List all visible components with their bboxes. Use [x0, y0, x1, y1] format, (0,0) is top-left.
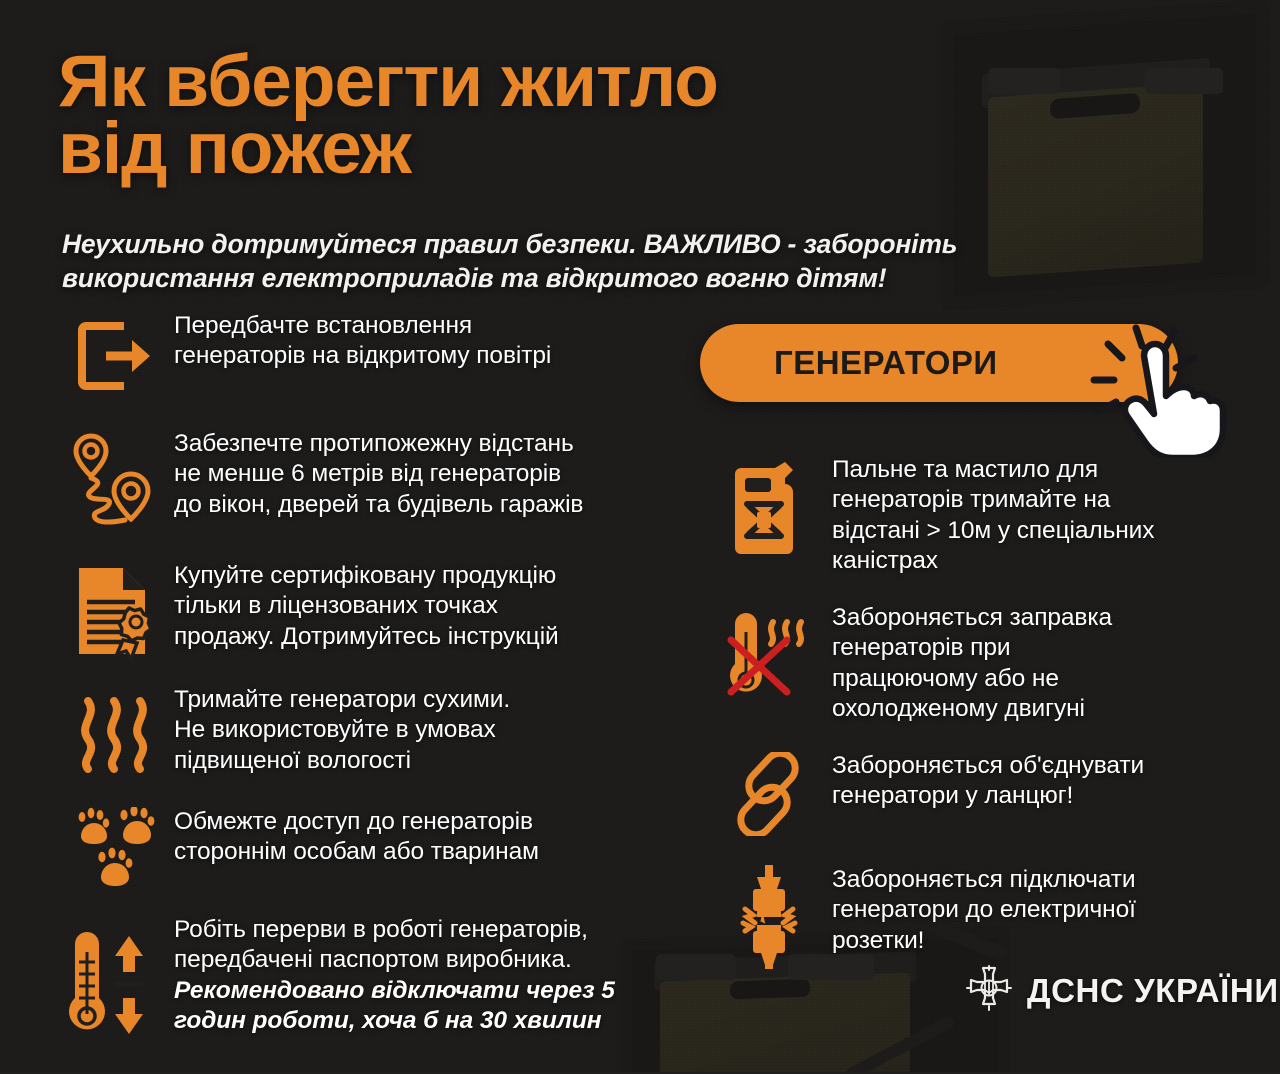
tip-text: Забороняється підключати генератори до е… [832, 862, 1136, 956]
tip-text: Робіть перерви в роботі генераторів, пер… [174, 912, 615, 1036]
page-subtitle: Неухильно дотримуйтеся правил безпеки. В… [62, 228, 1052, 296]
dsns-logo: ДСНС УКРАЇНИ [965, 964, 1279, 1017]
hot-thermometer-forbidden-icon [706, 600, 832, 708]
tip-text: Передбачте встановлення генераторів на в… [174, 308, 551, 372]
electric-plug-disconnect-icon [706, 862, 832, 972]
tip-text: Забезпечте протипожежну відстань не менш… [174, 426, 583, 520]
page-subtitle-line-2: використання електроприладів та відкрито… [62, 262, 1052, 296]
tip-line: продажу. Дотримуйтесь інструкцій [174, 622, 559, 652]
tip-work-breaks: Робіть перерви в роботі генераторів, пер… [56, 912, 696, 1052]
tip-line: стороннім особам або тваринам [174, 837, 539, 867]
dsns-cross-trident-icon [965, 964, 1013, 1017]
tip-fuel-storage: Пальне та мастило для генераторів тримай… [706, 452, 1246, 576]
page-subtitle-line-1: Неухильно дотримуйтеся правил безпеки. В… [62, 229, 957, 259]
tip-line: не менше 6 метрів від генераторів [174, 459, 583, 489]
tip-line: Тримайте генератори сухими. [174, 685, 510, 715]
paw-prints-icon [56, 804, 174, 890]
tip-line: Передбачте встановлення [174, 311, 551, 341]
left-tips-column: Передбачте встановлення генераторів на в… [56, 308, 696, 1074]
page-title-line-2: від пожеж [58, 115, 718, 182]
tip-certified-products: Купуйте сертифіковану продукцію тільки в… [56, 558, 696, 666]
tip-text: Пальне та мастило для генераторів тримай… [832, 452, 1154, 576]
humidity-waves-icon [56, 682, 174, 786]
right-tips-column: Пальне та мастило для генераторів тримай… [706, 452, 1246, 994]
tip-line: Пальне та мастило для [832, 455, 1154, 485]
fuel-canister-icon [706, 452, 832, 560]
tip-line: працюючому або не [832, 664, 1112, 694]
tip-outdoor-installation: Передбачте встановлення генераторів на в… [56, 308, 696, 404]
map-pins-distance-icon [56, 426, 174, 538]
tip-line: підвищеної вологості [174, 746, 510, 776]
tip-line: Забезпечте протипожежну відстань [174, 429, 583, 459]
tip-line: Обмежте доступ до генераторів [174, 807, 539, 837]
chain-link-icon [706, 748, 832, 840]
tip-no-socket-connection: Забороняється підключати генератори до е… [706, 862, 1246, 972]
tip-no-refuel-hot-engine: Забороняється заправка генераторів при п… [706, 600, 1246, 724]
tip-line: генератори у ланцюг! [832, 781, 1144, 811]
generators-button-label: ГЕНЕРАТОРИ [774, 344, 998, 382]
dsns-logo-text: ДСНС УКРАЇНИ [1027, 972, 1279, 1010]
tip-line: генераторів тримайте на [832, 485, 1154, 515]
tip-text: Обмежте доступ до генераторів стороннім … [174, 804, 539, 868]
tip-line: Забороняється підключати [832, 865, 1136, 895]
tip-line: до вікон, дверей та будівель гаражів [174, 490, 583, 520]
certificate-document-icon [56, 558, 174, 666]
tip-text: Забороняється заправка генераторів при п… [832, 600, 1112, 724]
tip-line-italic: годин роботи, хоча б на 30 хвилин [174, 1006, 615, 1036]
tip-line: Забороняється заправка [832, 603, 1112, 633]
tip-fire-distance: Забезпечте протипожежну відстань не менш… [56, 426, 696, 538]
tip-line: Забороняється об'єднувати [832, 751, 1144, 781]
tip-text: Тримайте генератори сухими. Не використо… [174, 682, 510, 776]
page-title: Як вберегти житло від пожеж [58, 48, 718, 182]
tip-line: Не використовуйте в умовах [174, 715, 510, 745]
pointing-hand-click-icon [1078, 318, 1238, 458]
tip-line: тільки в ліцензованих точках [174, 591, 559, 621]
tip-line: генераторів при [832, 633, 1112, 663]
tip-text: Купуйте сертифіковану продукцію тільки в… [174, 558, 559, 652]
tip-line: Робіть перерви в роботі генераторів, [174, 915, 615, 945]
tip-restrict-access: Обмежте доступ до генераторів стороннім … [56, 804, 696, 890]
tip-line: Купуйте сертифіковану продукцію [174, 561, 559, 591]
tip-line: охолодженому двигуні [832, 694, 1112, 724]
tip-line-italic: Рекомендовано відключати через 5 [174, 976, 615, 1006]
tip-text: Забороняється об'єднувати генератори у л… [832, 748, 1144, 812]
tip-line: відстані > 10м у спеціальних [832, 516, 1154, 546]
tip-no-daisy-chain: Забороняється об'єднувати генератори у л… [706, 748, 1246, 840]
exit-door-arrow-icon [56, 308, 174, 404]
tip-line: генератори до електричної [832, 895, 1136, 925]
tip-line: розетки! [832, 926, 1136, 956]
tip-line: генераторів на відкритому повітрі [174, 341, 551, 371]
tip-line: передбачені паспортом виробника. [174, 945, 615, 975]
tip-line: каністрах [832, 546, 1154, 576]
thermometer-arrows-icon [56, 912, 174, 1052]
tip-keep-dry: Тримайте генератори сухими. Не використо… [56, 682, 696, 786]
